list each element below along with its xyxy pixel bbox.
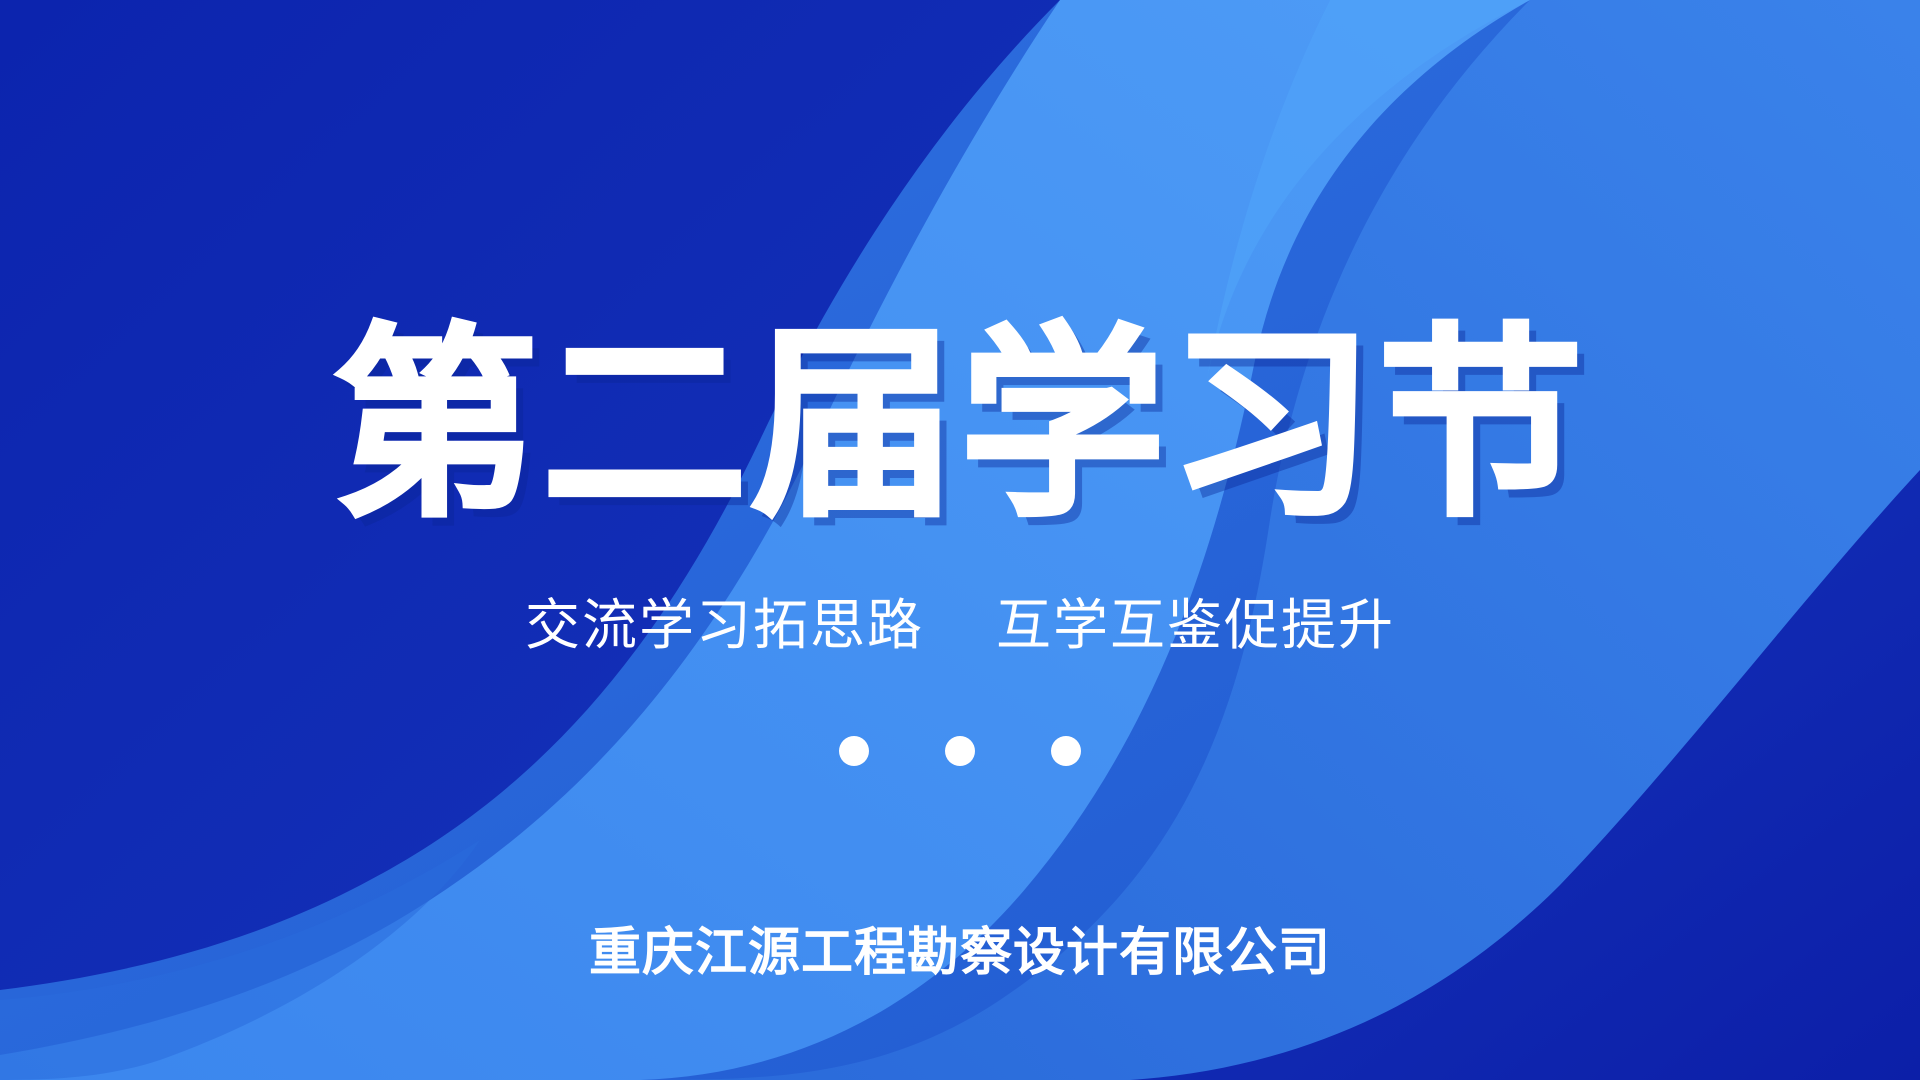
company-name: 重庆江源工程勘察设计有限公司 (0, 910, 1920, 985)
three-dots-divider (0, 736, 1920, 766)
poster-canvas: 第二届学习节 交流学习拓思路互学互鉴促提升 重庆江源工程勘察设计有限公司 (0, 0, 1920, 1080)
subtitle-right-phrase: 互学互鉴促提升 (996, 594, 1395, 656)
dot-icon (839, 736, 869, 766)
dot-icon (1051, 736, 1081, 766)
dot-icon (945, 736, 975, 766)
subtitle-left-phrase: 交流学习拓思路 (525, 594, 924, 656)
subtitle: 交流学习拓思路互学互鉴促提升 (0, 592, 1920, 658)
poster-content: 第二届学习节 交流学习拓思路互学互鉴促提升 重庆江源工程勘察设计有限公司 (0, 0, 1920, 1080)
page-title: 第二届学习节 (0, 318, 1920, 533)
